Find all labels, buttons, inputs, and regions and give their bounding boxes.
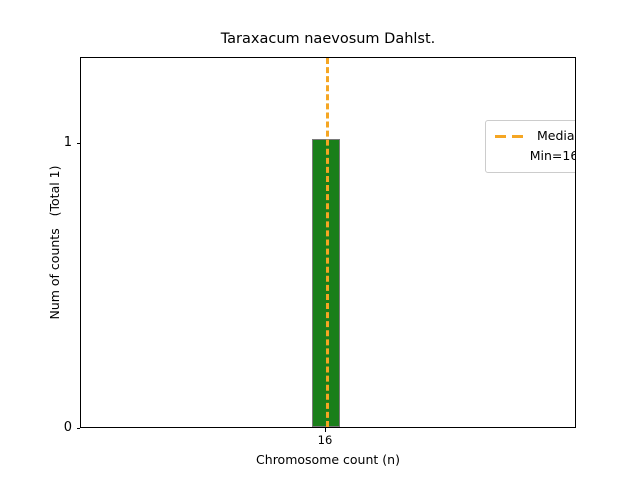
- chart-title: Taraxacum naevosum Dahlst.: [80, 30, 576, 48]
- y-axis-label: Num of counts (Total 1): [44, 57, 66, 428]
- matplotlib-figure: Taraxacum naevosum Dahlst. Median(n)=16.…: [0, 0, 640, 480]
- plot-axes-frame: Median(n)=16.0 Min=16, Max=16: [80, 57, 576, 428]
- legend[interactable]: Median(n)=16.0 Min=16, Max=16: [485, 120, 576, 173]
- legend-label-median: Median(n)=16.0: [537, 126, 576, 146]
- x-axis-label: Chromosome count (n): [80, 453, 576, 467]
- legend-entry-minmax: Min=16, Max=16: [494, 146, 576, 166]
- median-line: [326, 58, 329, 427]
- ytick-mark-1: [77, 143, 81, 144]
- legend-entry-median: Median(n)=16.0: [494, 126, 576, 146]
- ytick-mark-0: [77, 428, 81, 429]
- xtick-mark-16: [325, 428, 326, 432]
- dashed-line-icon: [494, 126, 528, 146]
- xtick-label-16: 16: [318, 434, 333, 446]
- legend-label-minmax: Min=16, Max=16: [530, 146, 576, 166]
